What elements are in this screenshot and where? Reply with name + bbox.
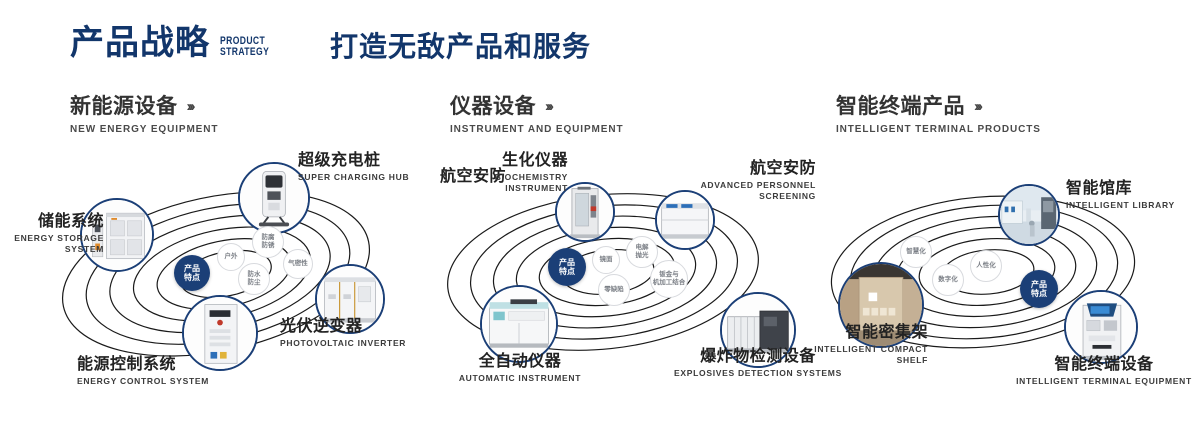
label-cn: 能源控制系统 [77, 356, 209, 374]
label-intelligent-library: 智能馆库 INTELLIGENT LIBRARY [1066, 180, 1175, 211]
product-strategy-infographic: 产品战略 PRODUCT STRATEGY 打造无敌产品和服务 新能源设备 ››… [0, 0, 1200, 422]
chevron-right-icon: ››› [974, 99, 980, 114]
feature-bubble-electropolishing: 电解抛光 [626, 236, 658, 268]
cluster-new-energy: 产品特点 户外 防腐防锈 防水防尘 气密性 储能系统 ENERGY STORAG… [30, 150, 430, 410]
chevron-right-icon: ››› [545, 99, 551, 114]
feature-bubble-humanized: 人性化 [970, 250, 1002, 282]
section-title-en: INSTRUMENT AND EQUIPMENT [450, 124, 623, 135]
label-en: ENERGY CONTROL SYSTEM [77, 376, 209, 387]
label-en: SUPER CHARGING HUB [298, 172, 409, 183]
section-title-cn: 新能源设备 ››› [70, 96, 218, 117]
section-heading-new-energy: 新能源设备 ››› NEW ENERGY EQUIPMENT [70, 96, 218, 135]
label-cn: 智能密集架 [786, 324, 928, 342]
feature-bubble-sheetmetal-machining: 钣金与机加工结合 [650, 260, 688, 298]
page-title-en: PRODUCT STRATEGY [220, 36, 269, 58]
label-cn: 超级充电桩 [298, 152, 409, 170]
label-super-charging-hub: 超级充电桩 SUPER CHARGING HUB [298, 152, 409, 183]
label-cn: 航空安防 [634, 160, 816, 178]
label-en: INTELLIGENT TERMINAL EQUIPMENT [1008, 376, 1200, 387]
label-automatic-instrument: 全自动仪器 AUTOMATIC INSTRUMENT [438, 353, 602, 384]
label-en: PHOTOVOLTAIC INVERTER [280, 338, 406, 349]
label-advanced-personnel-screening: 航空安防 ADVANCED PERSONNELSCREENING [634, 160, 816, 201]
label-en: ADVANCED PERSONNELSCREENING [634, 180, 816, 201]
label-intelligent-terminal-equipment: 智能终端设备 INTELLIGENT TERMINAL EQUIPMENT [1008, 356, 1200, 387]
node-intelligent-library[interactable] [998, 184, 1060, 246]
feature-bubble-outdoor: 户外 [217, 243, 245, 271]
label-en: BIOCHEMISTRYINSTRUMENT [440, 172, 568, 193]
label-cn: 全自动仪器 [438, 353, 602, 371]
page-title-cn: 产品战略 [70, 26, 210, 60]
node-intelligent-terminal-equipment[interactable] [1064, 290, 1138, 364]
label-en: INTELLIGENT LIBRARY [1066, 200, 1175, 211]
label-energy-control-system: 能源控制系统 ENERGY CONTROL SYSTEM [77, 356, 209, 387]
feature-bubble-digital: 数字化 [932, 264, 964, 296]
core-bubble-product-features: 产品特点 [548, 248, 586, 286]
page-subtitle: 打造无敌产品和服务 [330, 33, 591, 61]
section-heading-intelligent-terminal: 智能终端产品 ››› INTELLIGENT TERMINAL PRODUCTS [836, 96, 1041, 135]
label-cn: 储能系统 [0, 213, 104, 231]
feature-bubble-mirror-finish: 镜面 [592, 246, 620, 274]
section-heading-instrument: 仪器设备 ››› INSTRUMENT AND EQUIPMENT [450, 96, 623, 135]
label-cn: 生化仪器 [440, 152, 568, 170]
library-room-photo-icon [1000, 186, 1058, 244]
page-header: 产品战略 PRODUCT STRATEGY [70, 26, 283, 60]
label-en: AUTOMATIC INSTRUMENT [438, 373, 602, 384]
feature-bubble-waterproof-dustproof: 防水防尘 [238, 263, 270, 295]
label-cn: 智能终端设备 [1008, 356, 1200, 374]
self-service-kiosk-icon [1066, 292, 1136, 362]
section-title-cn: 仪器设备 ››› [450, 96, 623, 117]
label-en: ENERGY STORAGESYSTEM [0, 233, 104, 254]
label-pv-inverter: 光伏逆变器 PHOTOVOLTAIC INVERTER [280, 318, 406, 349]
node-automatic-instrument[interactable] [480, 285, 558, 363]
label-energy-storage: 储能系统 ENERGY STORAGESYSTEM [0, 213, 104, 254]
section-title-en: INTELLIGENT TERMINAL PRODUCTS [836, 124, 1041, 135]
cluster-intelligent-terminal: 智慧化 数字化 人性化 产品特点 智能馆库 INTELLIGENT LIBRAR… [808, 150, 1200, 410]
label-cn: 光伏逆变器 [280, 318, 406, 336]
core-bubble-product-features: 产品特点 [1020, 270, 1058, 308]
cluster-instrument: 产品特点 镜面 电解抛光 零缺陷 钣金与机加工结合 航空安防 生化仪器 BIOC… [420, 150, 820, 410]
feature-bubble-airtightness: 气密性 [283, 249, 313, 279]
section-title-text: 仪器设备 [450, 96, 536, 117]
section-title-text: 智能终端产品 [836, 96, 965, 117]
chevron-right-icon: ››› [187, 99, 193, 114]
feature-bubble-zero-defect: 零缺陷 [598, 274, 630, 306]
label-intelligent-compact-shelf: 智能密集架 INTELLIGENT COMPACTSHELF [786, 324, 928, 365]
feature-bubble-anticorrosion: 防腐防锈 [252, 226, 284, 258]
page-title-en-line2: STRATEGY [220, 47, 269, 58]
section-title-text: 新能源设备 [70, 96, 178, 117]
automatic-instrument-icon [482, 287, 556, 361]
core-bubble-product-features: 产品特点 [174, 255, 210, 291]
feature-bubble-intelligent: 智慧化 [900, 236, 932, 268]
section-title-cn: 智能终端产品 ››› [836, 96, 1041, 117]
section-title-en: NEW ENERGY EQUIPMENT [70, 124, 218, 135]
label-en: INTELLIGENT COMPACTSHELF [786, 344, 928, 365]
label-biochemistry-instrument: 生化仪器 BIOCHEMISTRYINSTRUMENT [440, 152, 568, 193]
label-cn: 智能馆库 [1066, 180, 1175, 198]
